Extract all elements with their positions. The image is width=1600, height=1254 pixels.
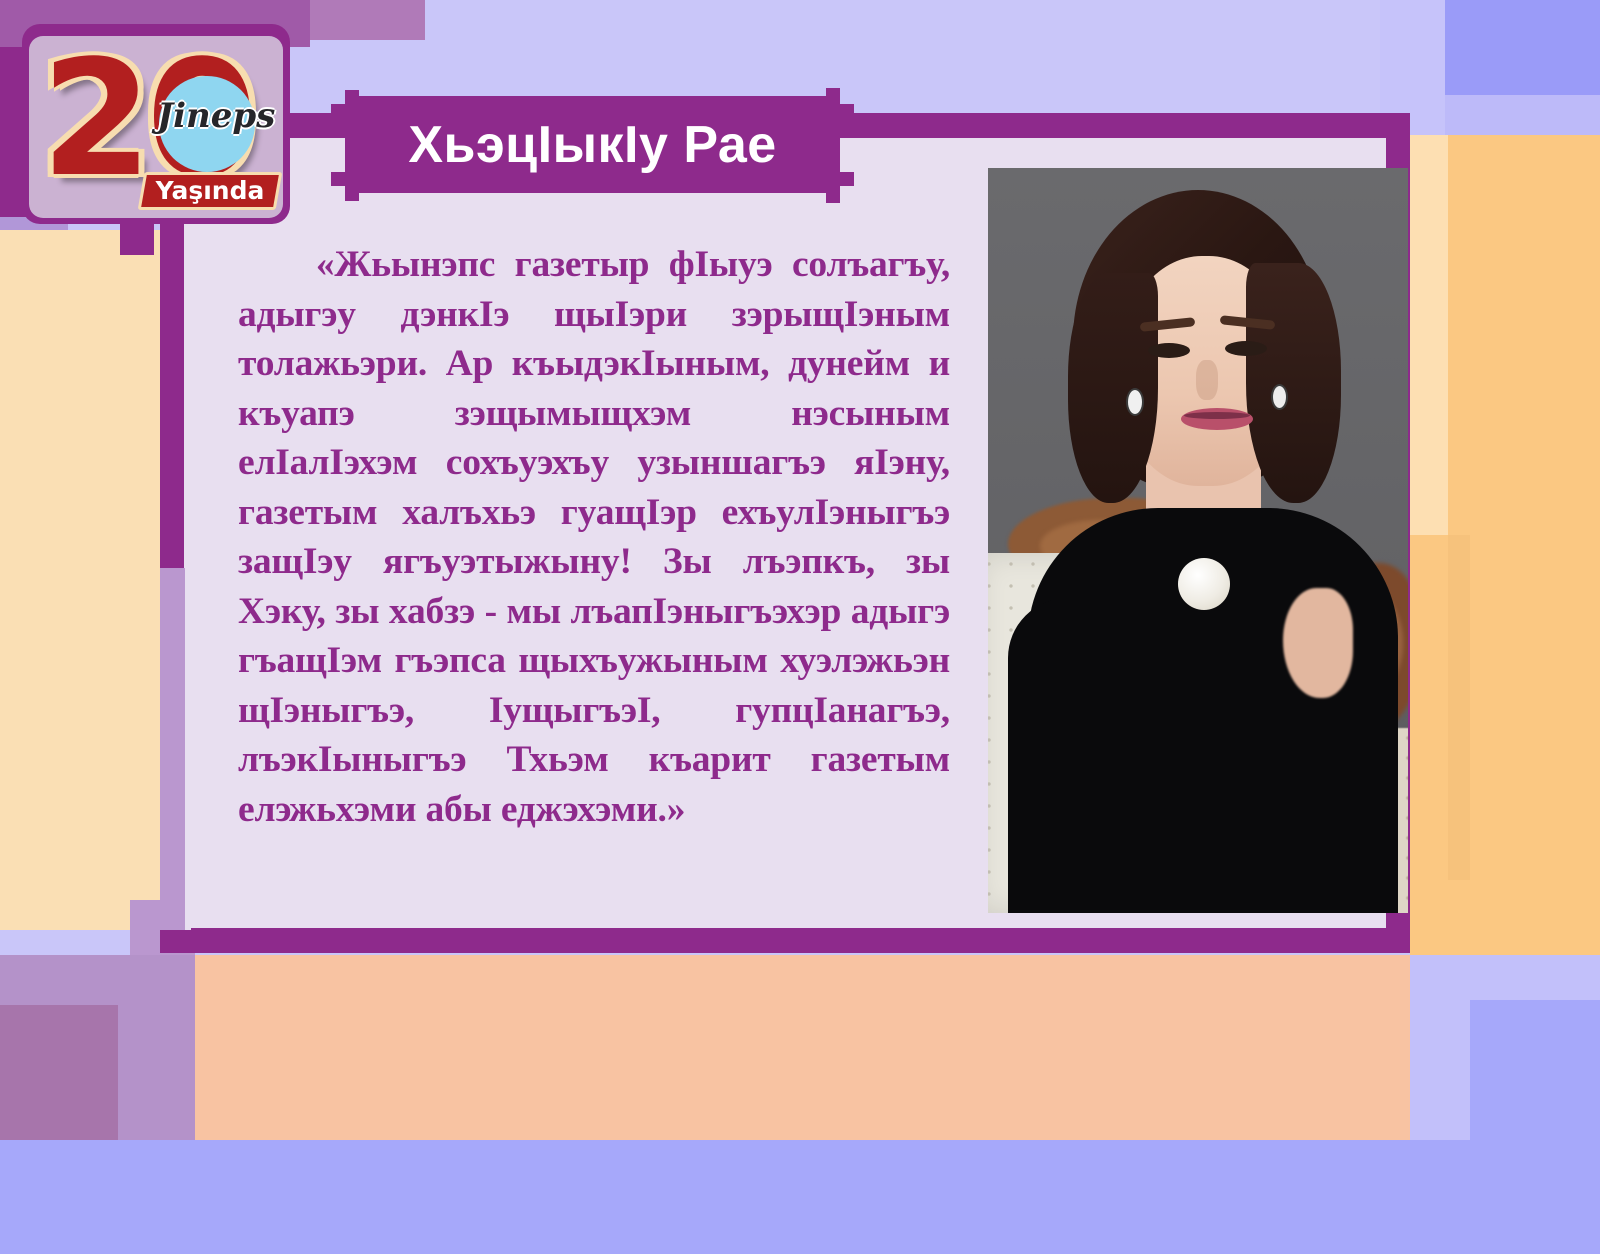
photo-hair-right-side (1246, 263, 1341, 503)
photo-nose (1196, 360, 1218, 400)
photo-black-top-left-shoulder (1008, 598, 1138, 913)
background-block-right-cream (1410, 135, 1448, 535)
page-title: ХьэцIыкIу Рае (408, 115, 776, 175)
banner-notch-bottom-right (840, 172, 854, 186)
logo-brand-jineps: Jineps (157, 96, 267, 136)
portrait-photo (988, 168, 1408, 913)
banner-notch-top-left (331, 104, 345, 118)
photo-eye-left (1148, 343, 1190, 358)
banner-notch-bottom-left-2 (345, 193, 359, 201)
background-block-top-left-lilac (310, 0, 425, 40)
photo-eye-right (1225, 341, 1267, 356)
title-banner: ХьэцIыкIу Рае (345, 96, 840, 193)
logo-plate: 20 Jineps Yaşında (29, 36, 283, 218)
card-frame-cut-left-inner (185, 568, 191, 930)
banner-notch-top-right (840, 104, 854, 118)
photo-hair-left-side (1068, 273, 1158, 503)
background-block-bottom-peach (160, 955, 1410, 1160)
background-block-bottom-blue (0, 1140, 1600, 1254)
photo-brooch (1178, 558, 1230, 610)
banner-notch-bottom-left (331, 172, 345, 186)
photo-lips-line (1184, 412, 1250, 419)
photo-earring-right (1273, 386, 1286, 408)
background-block-top-right-blue (1445, 0, 1600, 95)
background-block-top-right-lavender2 (1445, 95, 1600, 135)
slide-canvas: «Жьынэпс газетыр фIыуэ солъагъу, адыгэу … (0, 0, 1600, 1254)
anniversary-logo: 20 Jineps Yaşında (22, 24, 290, 224)
banner-notch-bottom-right-2 (826, 193, 840, 203)
photo-hand (1283, 588, 1353, 698)
background-block-bottom-left-mauve2 (0, 1005, 118, 1140)
card-frame-cut-left (160, 568, 185, 930)
portrait-photo-frame (988, 168, 1408, 913)
logo-ribbon-label: Yaşında (141, 172, 279, 210)
background-block-bottom-right-blue (1470, 1000, 1600, 1160)
photo-earring-left (1128, 390, 1142, 414)
quote-text: «Жьынэпс газетыр фIыуэ солъагъу, адыгэу … (238, 240, 950, 834)
background-block-bottom-right-orange (1410, 880, 1600, 955)
banner-notch-top-right-2 (826, 88, 840, 96)
